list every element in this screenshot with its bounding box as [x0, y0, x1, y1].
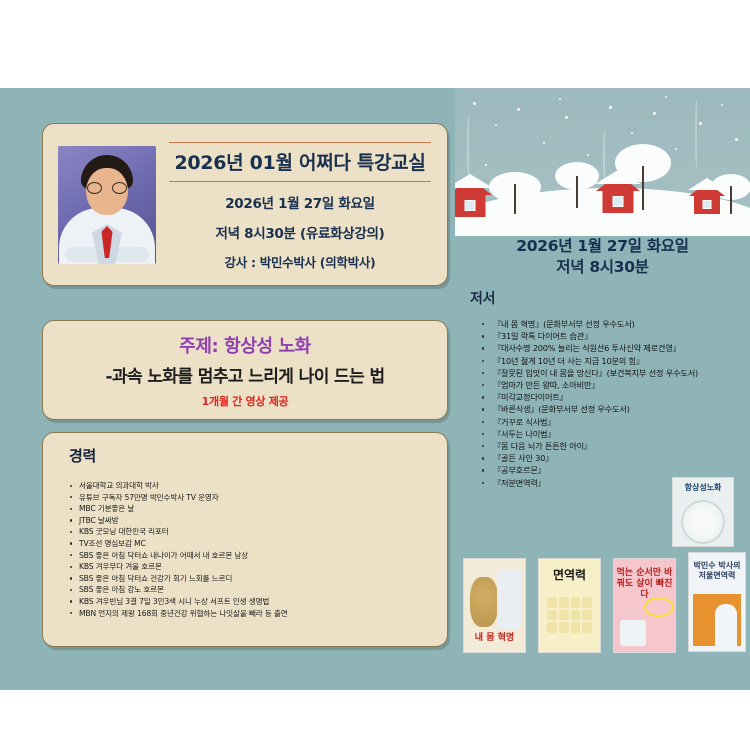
list-item: TV조선 명심보감 MC	[69, 538, 437, 550]
topic-sub-text: -과속 노화를 멈추고 느리게 나이 드는 법	[43, 362, 447, 387]
book-cover-thumbnail: 박민수 박사의 저울면역력	[688, 552, 746, 652]
book-cover-thumbnail: 면역력	[538, 558, 601, 653]
list-item: 『엄마가 만든 왕따, 소아비만』	[478, 379, 746, 391]
list-item: 『10년 젊게 10년 더 사는 지금 10분의 힘』	[478, 355, 746, 367]
right-date-block: 2026년 1월 27일 화요일 저녁 8시30분	[455, 236, 750, 278]
book-cover-title: 내 몸 혁명	[464, 630, 525, 643]
book-cover-title: 항상성노화	[673, 481, 733, 496]
right-time-line: 저녁 8시30분	[455, 257, 750, 278]
list-item: MBC 기분좋은 날	[69, 503, 437, 515]
career-heading: 경력	[69, 445, 447, 466]
list-item: 『31일 락톡 다이어트 습관』	[478, 330, 746, 342]
lecture-time: 저녁 8시30분 (유료화상강의)	[163, 222, 437, 242]
list-item: SBS 좋은 아침 닥터쇼 건강기 회기 느회를 느르디	[69, 573, 437, 585]
list-item: SBS 좋은 아침 닥터쇼 내나이가 어때서 내 호르몬 낭상	[69, 550, 437, 562]
right-date-line: 2026년 1월 27일 화요일	[455, 236, 750, 257]
book-cover-thumbnail: 먹는 순서만 바꿔도 살이 빠진다	[613, 558, 676, 653]
book-cover-title: 면역력	[539, 566, 600, 585]
red-house	[455, 178, 493, 218]
books-list: 『내 몸 혁명』(문화부서부 선정 우수도서) 『31일 락톡 다이어트 습관』…	[478, 318, 746, 489]
career-list: 서울대학교 의과대학 박사 유튜브 구독자 57만명 박민수박사 TV 운영자 …	[43, 480, 447, 619]
topic-card: 주제: 항상성 노화 -과속 노화를 멈추고 느리게 나이 드는 법 1개월 간…	[42, 320, 448, 420]
list-item: 『내 몸 혁명』(문화부서부 선정 우수도서)	[478, 318, 746, 330]
winter-illustration	[455, 88, 750, 236]
speaker-portrait	[58, 146, 156, 264]
list-item: JTBC 날싸방	[69, 515, 437, 527]
red-house	[595, 174, 641, 214]
list-item: 『미각교정다이어트』	[478, 391, 746, 403]
list-item: 『몸 다음 뇌가 튼튼한 아이』	[478, 440, 746, 452]
list-item: 『바른식생』(문화부서부 선정 우수도서)	[478, 403, 746, 415]
list-item: KBS 겨우무다 겨울 호르몬	[69, 561, 437, 573]
snow-tree	[489, 172, 541, 214]
poster-canvas: 2026년 01월 어쩌다 특강교실 2026년 1월 27일 화요일 저녁 8…	[0, 0, 750, 750]
list-item: 『골든 사인 30』	[478, 452, 746, 464]
list-item: 『잘못된 입맛이 내 몸을 망신다』(보건복지부 선정 우수도서)	[478, 367, 746, 379]
books-heading: 저서	[470, 288, 495, 308]
book-cover-thumbnail: 내 몸 혁명	[463, 558, 526, 653]
list-item: KBS 겨우빈님 3결 7일 3인3색 시니 누상 서프트 인생 생명법	[69, 596, 437, 608]
list-item: 『공부호르몬』	[478, 464, 746, 476]
red-house	[687, 182, 727, 218]
list-item: 서울대학교 의과대학 박사	[69, 480, 437, 492]
list-item: MBN 언지의 제왕 168회 중년건강 위협하는 나잇살을 빼라 등 출연	[69, 608, 437, 620]
list-item: KBS 굿모닝 대한민국 리포터	[69, 526, 437, 538]
list-item: 유튜브 구독자 57만명 박민수박사 TV 운영자	[69, 492, 437, 504]
book-cover-thumbnail: 항상성노화	[672, 477, 734, 547]
list-item: 『거꾸로 식사법』	[478, 416, 746, 428]
glasses-icon	[87, 182, 127, 194]
topic-note-text: 1개월 간 영상 제공	[43, 393, 447, 409]
lecture-speaker: 강사 : 박민수박사 (의학박사)	[163, 252, 437, 271]
book-cover-title: 박민수 박사의 저울면역력	[689, 558, 745, 583]
career-card: 경력 서울대학교 의과대학 박사 유튜브 구독자 57만명 박민수박사 TV 운…	[42, 432, 448, 647]
topic-main-text: 주제: 항상성 노화	[43, 332, 447, 358]
list-item: SBS 좋은 아침 강노 호르몬	[69, 584, 437, 596]
lecture-title: 2026년 01월 어쩌다 특강교실	[169, 142, 431, 182]
header-card: 2026년 01월 어쩌다 특강교실 2026년 1월 27일 화요일 저녁 8…	[42, 123, 448, 286]
snow-tree	[555, 162, 599, 208]
list-item: 『서두는 나이법』	[478, 428, 746, 440]
lecture-date: 2026년 1월 27일 화요일	[163, 192, 437, 212]
list-item: 『대사수명 200% 늘리는 식원선6 투사신약 제로건영』	[478, 342, 746, 354]
